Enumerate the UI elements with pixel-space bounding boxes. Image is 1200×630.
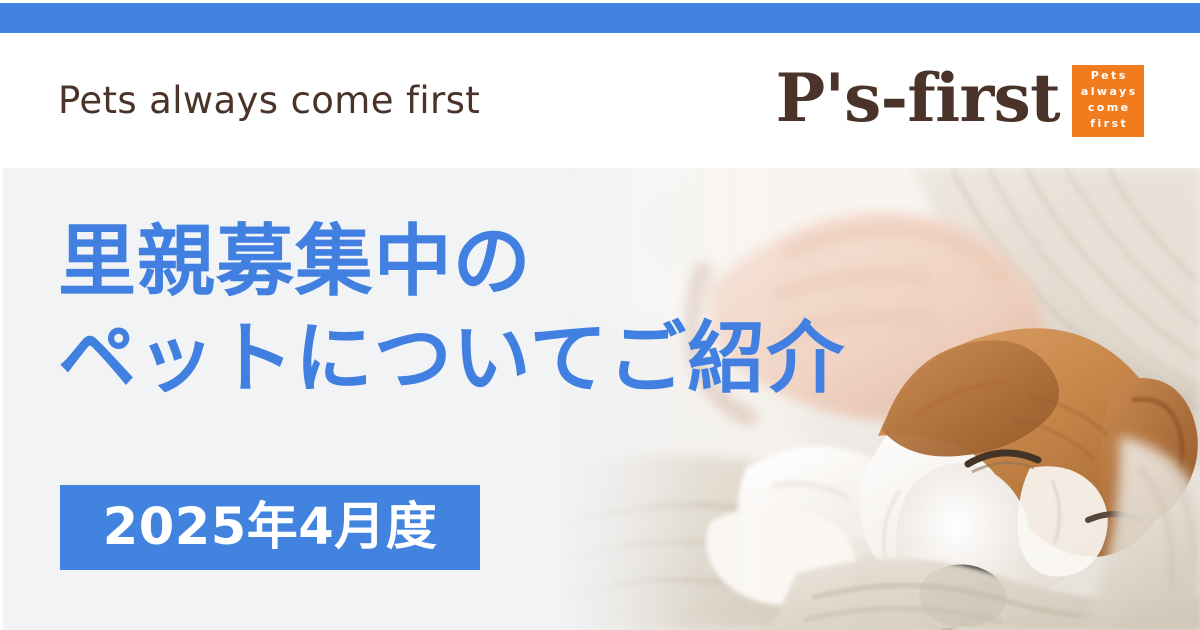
logo-badge: Pets always come first <box>1072 65 1144 137</box>
site-header: Pets always come first P's-first Pets al… <box>0 33 1200 168</box>
hero-headline: 里親募集中の ペットについてご紹介 <box>58 214 845 407</box>
hero-section: 里親募集中の ペットについてご紹介 2025年4月度 <box>0 168 1200 630</box>
logo-badge-line-2: always <box>1078 85 1137 100</box>
logo-badge-line-3: come <box>1085 101 1130 116</box>
date-badge-label: 2025年4月度 <box>103 502 438 553</box>
top-accent-rule <box>0 3 1200 33</box>
logo-badge-line-4: first <box>1088 117 1128 132</box>
headline-line-2: ペットについてご紹介 <box>58 311 845 408</box>
logo-badge-line-1: Pets <box>1088 69 1127 84</box>
date-badge: 2025年4月度 <box>60 485 480 570</box>
headline-line-1: 里親募集中の <box>58 214 845 311</box>
header-tagline: Pets always come first <box>58 82 480 119</box>
brand-logo[interactable]: P's-first Pets always come first <box>776 65 1144 137</box>
logo-wordmark: P's-first <box>776 65 1060 131</box>
pets-first-banner: Pets always come first P's-first Pets al… <box>0 0 1200 630</box>
